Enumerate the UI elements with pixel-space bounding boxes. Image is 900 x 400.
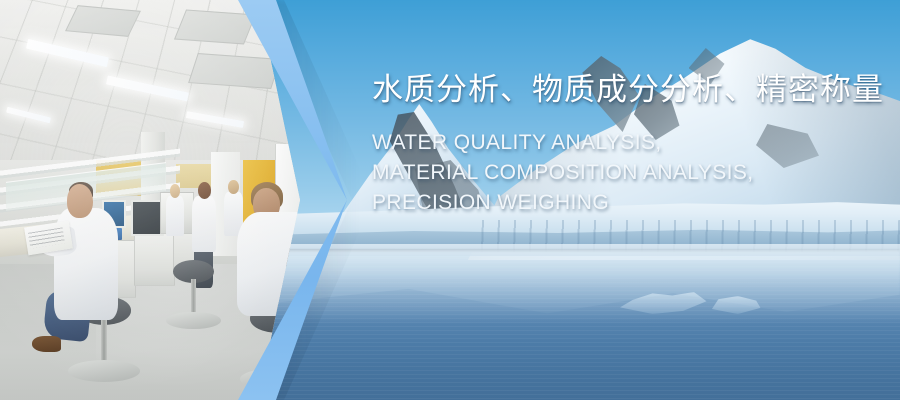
stool-base <box>166 312 221 330</box>
banner-subtitle: WATER QUALITY ANALYSIS, MATERIAL COMPOSI… <box>372 112 892 218</box>
ceiling-panel <box>65 5 141 37</box>
banner-subtitle-line-1: WATER QUALITY ANALYSIS, <box>372 128 892 158</box>
lab-stool <box>173 260 215 328</box>
stool-post <box>101 320 108 365</box>
stool-post <box>191 279 196 316</box>
stool-base <box>68 360 140 382</box>
glacier-crevasses <box>468 220 900 252</box>
scientist-shoe <box>32 336 61 352</box>
banner-text-block: 水质分析、物质成分分析、精密称量 WATER QUALITY ANALYSIS,… <box>372 68 892 218</box>
scientist-head <box>67 184 93 218</box>
scientist-standing <box>166 196 184 236</box>
scientist-walking <box>192 196 216 252</box>
ceiling-panel <box>188 53 281 89</box>
scientist-head <box>198 182 211 199</box>
hero-banner: 水质分析、物质成分分析、精密称量 WATER QUALITY ANALYSIS,… <box>0 0 900 400</box>
banner-subtitle-line-3: PRECISION WEIGHING <box>372 188 892 218</box>
bench-cabinet <box>134 232 174 286</box>
banner-subtitle-line-2: MATERIAL COMPOSITION ANALYSIS, <box>372 158 892 188</box>
ceiling-panel <box>174 9 256 44</box>
banner-headline: 水质分析、物质成分分析、精密称量 <box>372 68 892 112</box>
